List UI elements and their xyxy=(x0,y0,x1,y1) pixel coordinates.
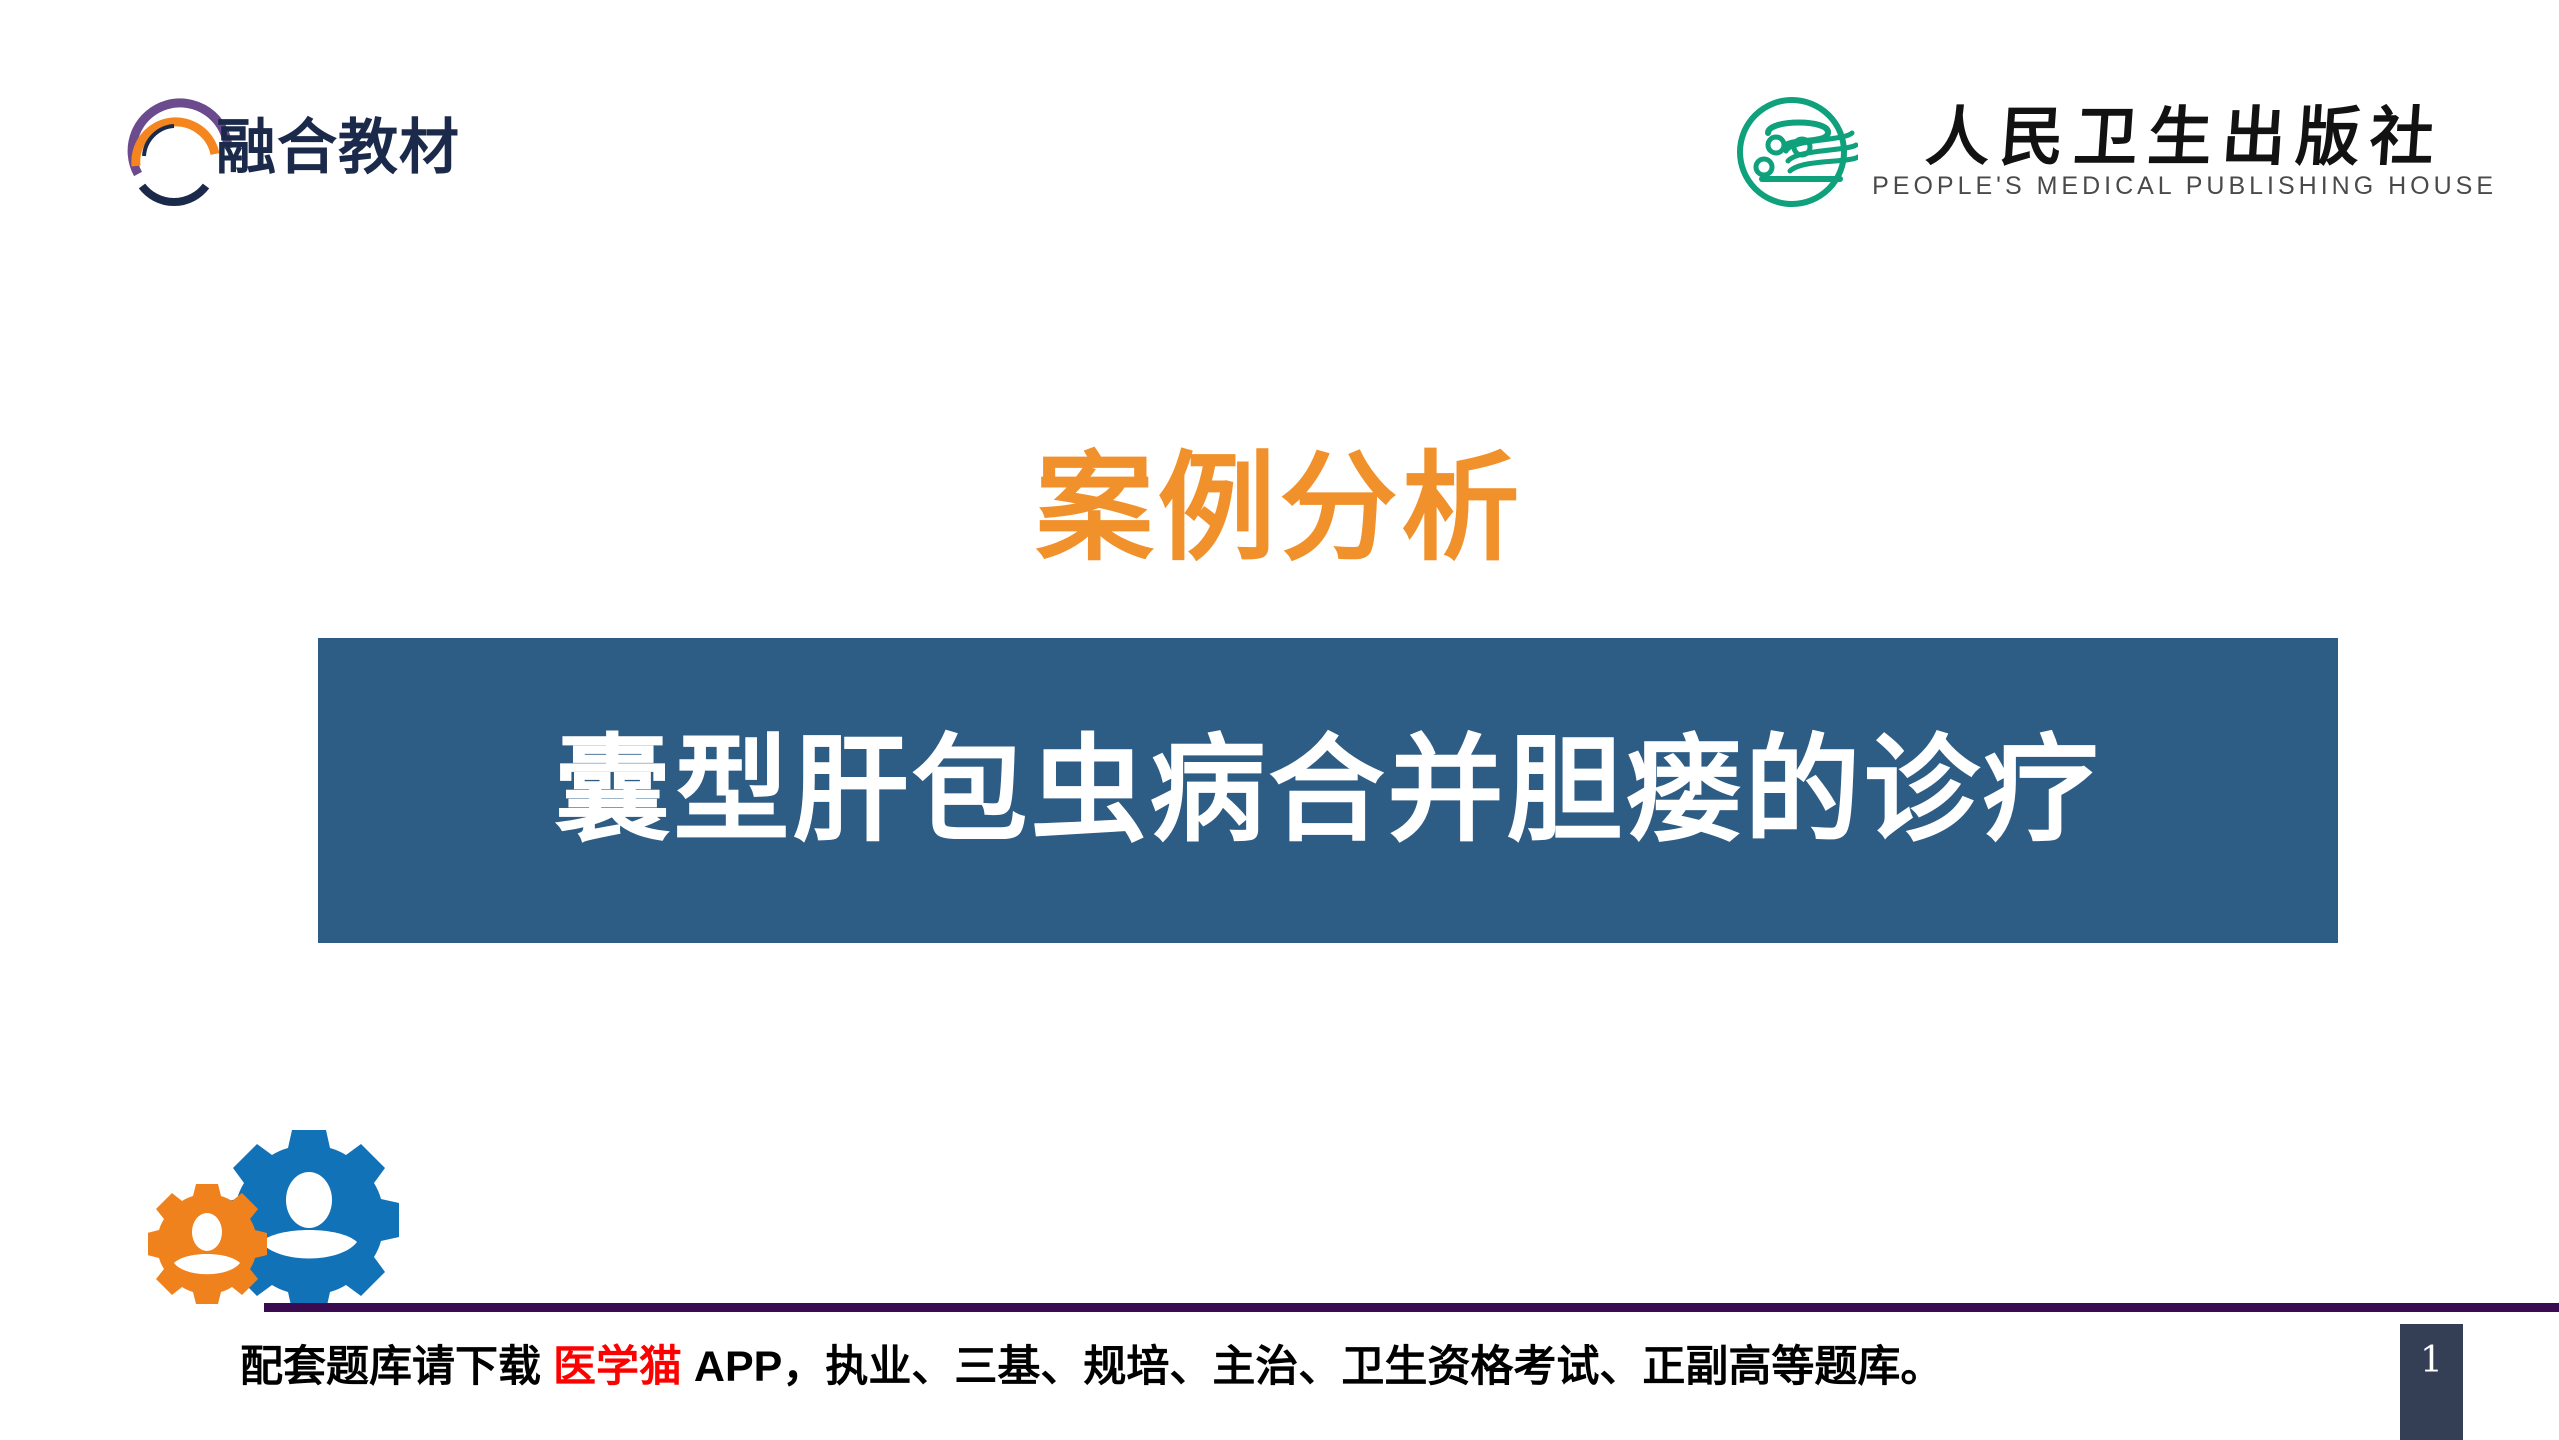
slide-number-badge: 1 xyxy=(2400,1324,2463,1440)
footer-app-name: 医学猫 xyxy=(553,1343,682,1391)
case-analysis-heading: 案例分析 xyxy=(0,445,2559,575)
footer-note-part1: 配套题库请下载 xyxy=(240,1343,553,1391)
publisher-name-cn: 人民卫生出版社 xyxy=(1923,105,2446,170)
slide-title: 囊型肝包虫病合并胆瘘的诊疗 xyxy=(555,727,2102,855)
footer-divider-rule xyxy=(264,1303,2559,1312)
publisher-lockup: 人民卫生出版社 PEOPLE'S MEDICAL PUBLISHING HOUS… xyxy=(1732,88,2497,216)
gears-icon xyxy=(148,1122,416,1307)
slide-number-value: 1 xyxy=(2400,1343,2463,1379)
title-banner: 囊型肝包虫病合并胆瘘的诊疗 xyxy=(318,638,2338,943)
publisher-name-en: PEOPLE'S MEDICAL PUBLISHING HOUSE xyxy=(1872,174,2497,199)
ronghe-brand-lockup: 融合教材 xyxy=(118,72,478,222)
slide-canvas: 融合教材 人民卫生出版社 PEOPLE'S MEDICAL PUBLISHING… xyxy=(0,0,2559,1440)
footer-note-part2: APP，执业、三基、规培、主治、卫生资格考试、正副高等题库。 xyxy=(682,1343,1943,1391)
gear-people-decoration xyxy=(148,1122,416,1307)
gear-small-icon xyxy=(148,1184,267,1304)
publisher-emblem-icon xyxy=(1732,89,1858,215)
ronghe-brand-label: 融合教材 xyxy=(216,118,460,178)
footer-promo-note: 配套题库请下载 医学猫 APP，执业、三基、规培、主治、卫生资格考试、正副高等题… xyxy=(240,1341,1943,1395)
